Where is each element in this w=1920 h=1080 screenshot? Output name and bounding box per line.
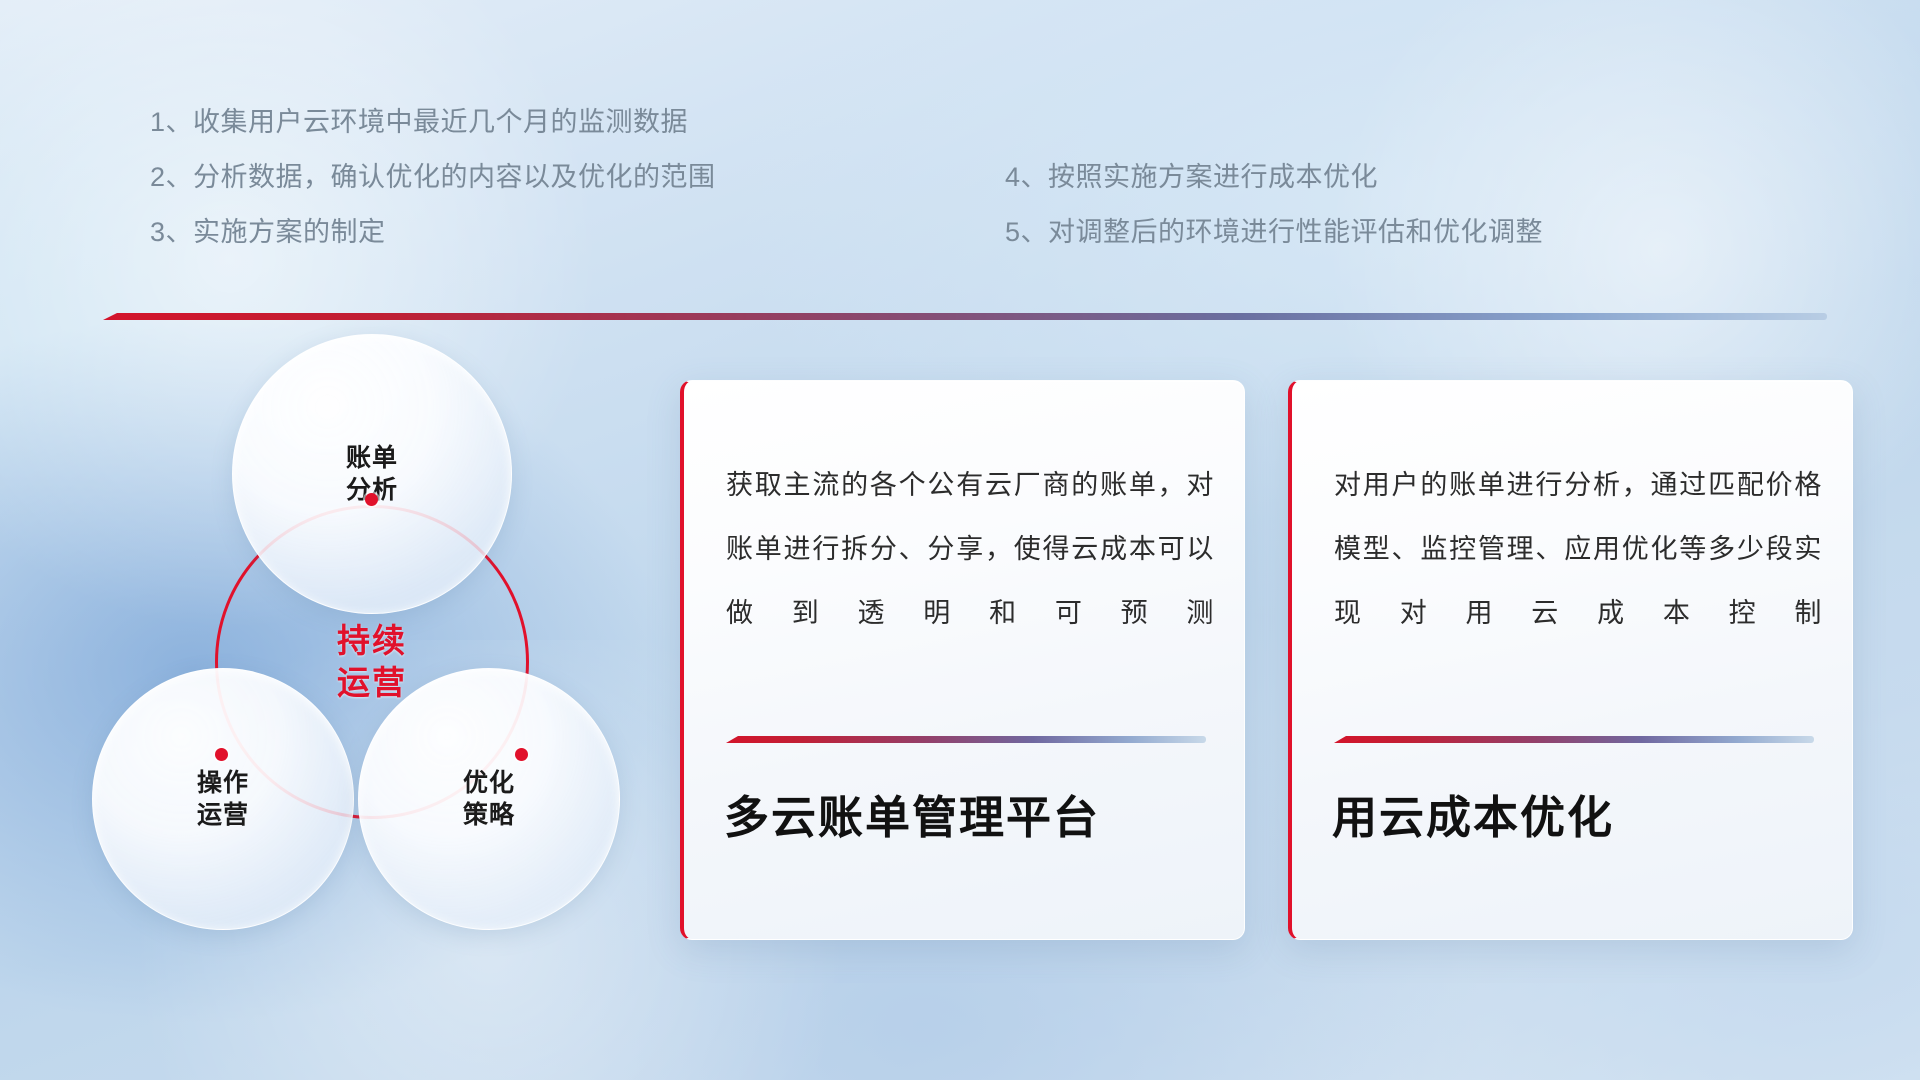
section-divider [103, 313, 1827, 320]
info-card-cost-optimization[interactable]: 对用户的账单进行分析，通过匹配价格模型、监控管理、应用优化等多少段实现对用云成本… [1288, 380, 1853, 940]
venn-center-line2: 运营 [337, 662, 407, 704]
info-card-description: 获取主流的各个公有云厂商的账单，对账单进行拆分、分享，使得云成本可以做到透明和可… [726, 453, 1214, 645]
steps-column-left: 1、收集用户云环境中最近几个月的监测数据 2、分析数据，确认优化的内容以及优化的… [150, 95, 716, 260]
step-item: 3、实施方案的制定 [150, 205, 716, 260]
venn-diagram: 账单 分析 操作 运营 优化 策略 持续 运营 [100, 350, 640, 950]
venn-center-line1: 持续 [337, 620, 407, 662]
steps-column-right: 4、按照实施方案进行成本优化 5、对调整后的环境进行性能评估和优化调整 [1005, 150, 1543, 260]
step-item: 2、分析数据，确认优化的内容以及优化的范围 [150, 150, 716, 205]
step-item: 1、收集用户云环境中最近几个月的监测数据 [150, 95, 716, 150]
venn-center-label: 持续 运营 [215, 505, 529, 819]
venn-bubble-label-line1: 账单 [346, 442, 398, 474]
info-card-divider [1334, 736, 1814, 743]
info-card-description: 对用户的账单进行分析，通过匹配价格模型、监控管理、应用优化等多少段实现对用云成本… [1334, 453, 1822, 645]
step-item: 4、按照实施方案进行成本优化 [1005, 150, 1543, 205]
info-card-multicloud-billing[interactable]: 获取主流的各个公有云厂商的账单，对账单进行拆分、分享，使得云成本可以做到透明和可… [680, 380, 1245, 940]
venn-node-dot-bottom-left [215, 748, 228, 761]
info-card-title: 用云成本优化 [1332, 781, 1614, 846]
info-card-title: 多云账单管理平台 [724, 781, 1100, 846]
step-item: 5、对调整后的环境进行性能评估和优化调整 [1005, 205, 1543, 260]
venn-node-dot-bottom-right [515, 748, 528, 761]
venn-node-dot-top [365, 493, 378, 506]
info-card-divider [726, 736, 1206, 743]
